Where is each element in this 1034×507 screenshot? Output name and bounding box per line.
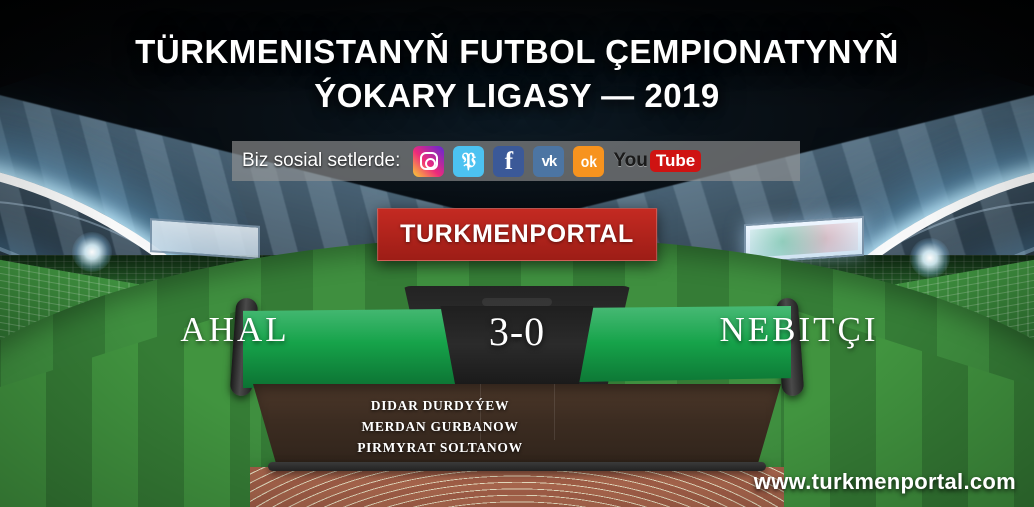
facebook-f-glyph: f [505, 149, 513, 174]
odnoklassniki-icon[interactable]: ok [573, 146, 604, 177]
scorer-1: DIDAR DURDYÝEW [315, 396, 565, 417]
scoreboard-lower-body: DIDAR DURDYÝEW MERDAN GURBANOW PIRMYRAT … [253, 384, 781, 466]
scorer-2: MERDAN GURBANOW [315, 417, 565, 438]
youtube-tube-text: Tube [650, 150, 701, 172]
youtube-icon[interactable]: You Tube [613, 146, 701, 177]
title-line-2: ÝOKARY LIGASY — 2019 [0, 74, 1034, 118]
scoreboard-base-bar [268, 462, 766, 471]
floodlight-flare-1 [72, 232, 112, 272]
title-line-1: TÜRKMENISTANYŇ FUTBOL ÇEMPIONATYNYŇ [135, 33, 899, 70]
match-scoreboard: AHAL 3-0 NEBITÇI DIDAR DURDYÝEW MERDAN G… [0, 280, 1034, 490]
stadium-banner: TÜRKMENISTANYŇ FUTBOL ÇEMPIONATYNYŇ ÝOKA… [0, 0, 1034, 507]
match-score: 3-0 [489, 308, 545, 355]
social-links-bar: Biz sosial setlerde: 𝔓 f vk ok You Tube [232, 141, 800, 181]
facebook-icon[interactable]: f [493, 146, 524, 177]
website-url[interactable]: www.turkmenportal.com [754, 469, 1016, 495]
social-label: Biz sosial setlerde: [242, 150, 400, 172]
floodlight-flare-3 [910, 238, 950, 278]
home-team-name: AHAL [0, 310, 470, 350]
vk-glyph: vk [542, 153, 557, 170]
goal-scorers-list: DIDAR DURDYÝEW MERDAN GURBANOW PIRMYRAT … [315, 396, 565, 459]
away-team-name: NEBITÇI [564, 310, 1034, 350]
twitter-icon[interactable]: 𝔓 [453, 146, 484, 177]
instagram-glyph [420, 152, 438, 170]
banner-title: TÜRKMENISTANYŇ FUTBOL ÇEMPIONATYNYŇ ÝOKA… [0, 30, 1034, 117]
instagram-icon[interactable] [413, 146, 444, 177]
scorer-3: PIRMYRAT SOLTANOW [315, 438, 565, 459]
odnoklassniki-glyph: ok [581, 152, 597, 170]
youtube-you-text: You [613, 150, 647, 172]
turkmenportal-logo[interactable]: TURKMENPORTAL [377, 208, 657, 261]
twitter-bird-glyph: 𝔓 [462, 151, 476, 171]
vk-icon[interactable]: vk [533, 146, 564, 177]
